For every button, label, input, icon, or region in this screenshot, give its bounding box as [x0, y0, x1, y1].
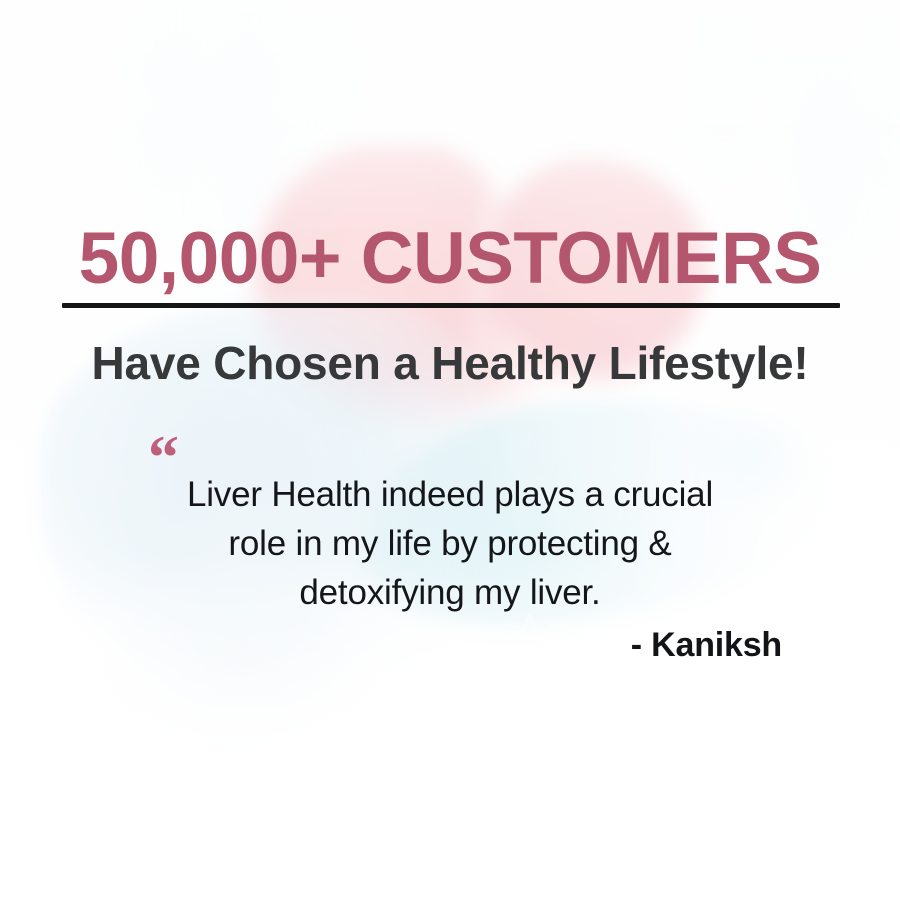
quote-line: Liver Health indeed plays a crucial	[120, 470, 780, 519]
testimonial-author: - Kaniksh	[0, 628, 782, 662]
testimonial-quote: Liver Health indeed plays a crucial role…	[120, 470, 780, 617]
testimonial-banner: 50,000+ CUSTOMERS Have Chosen a Healthy …	[0, 0, 900, 900]
quote-line: role in my life by protecting &	[120, 519, 780, 568]
quote-line: detoxifying my liver.	[120, 568, 780, 617]
headline-divider	[62, 303, 840, 308]
banner-content: 50,000+ CUSTOMERS Have Chosen a Healthy …	[0, 0, 900, 900]
subheadline: Have Chosen a Healthy Lifestyle!	[0, 340, 900, 386]
headline-customer-count: 50,000+ CUSTOMERS	[0, 222, 900, 295]
